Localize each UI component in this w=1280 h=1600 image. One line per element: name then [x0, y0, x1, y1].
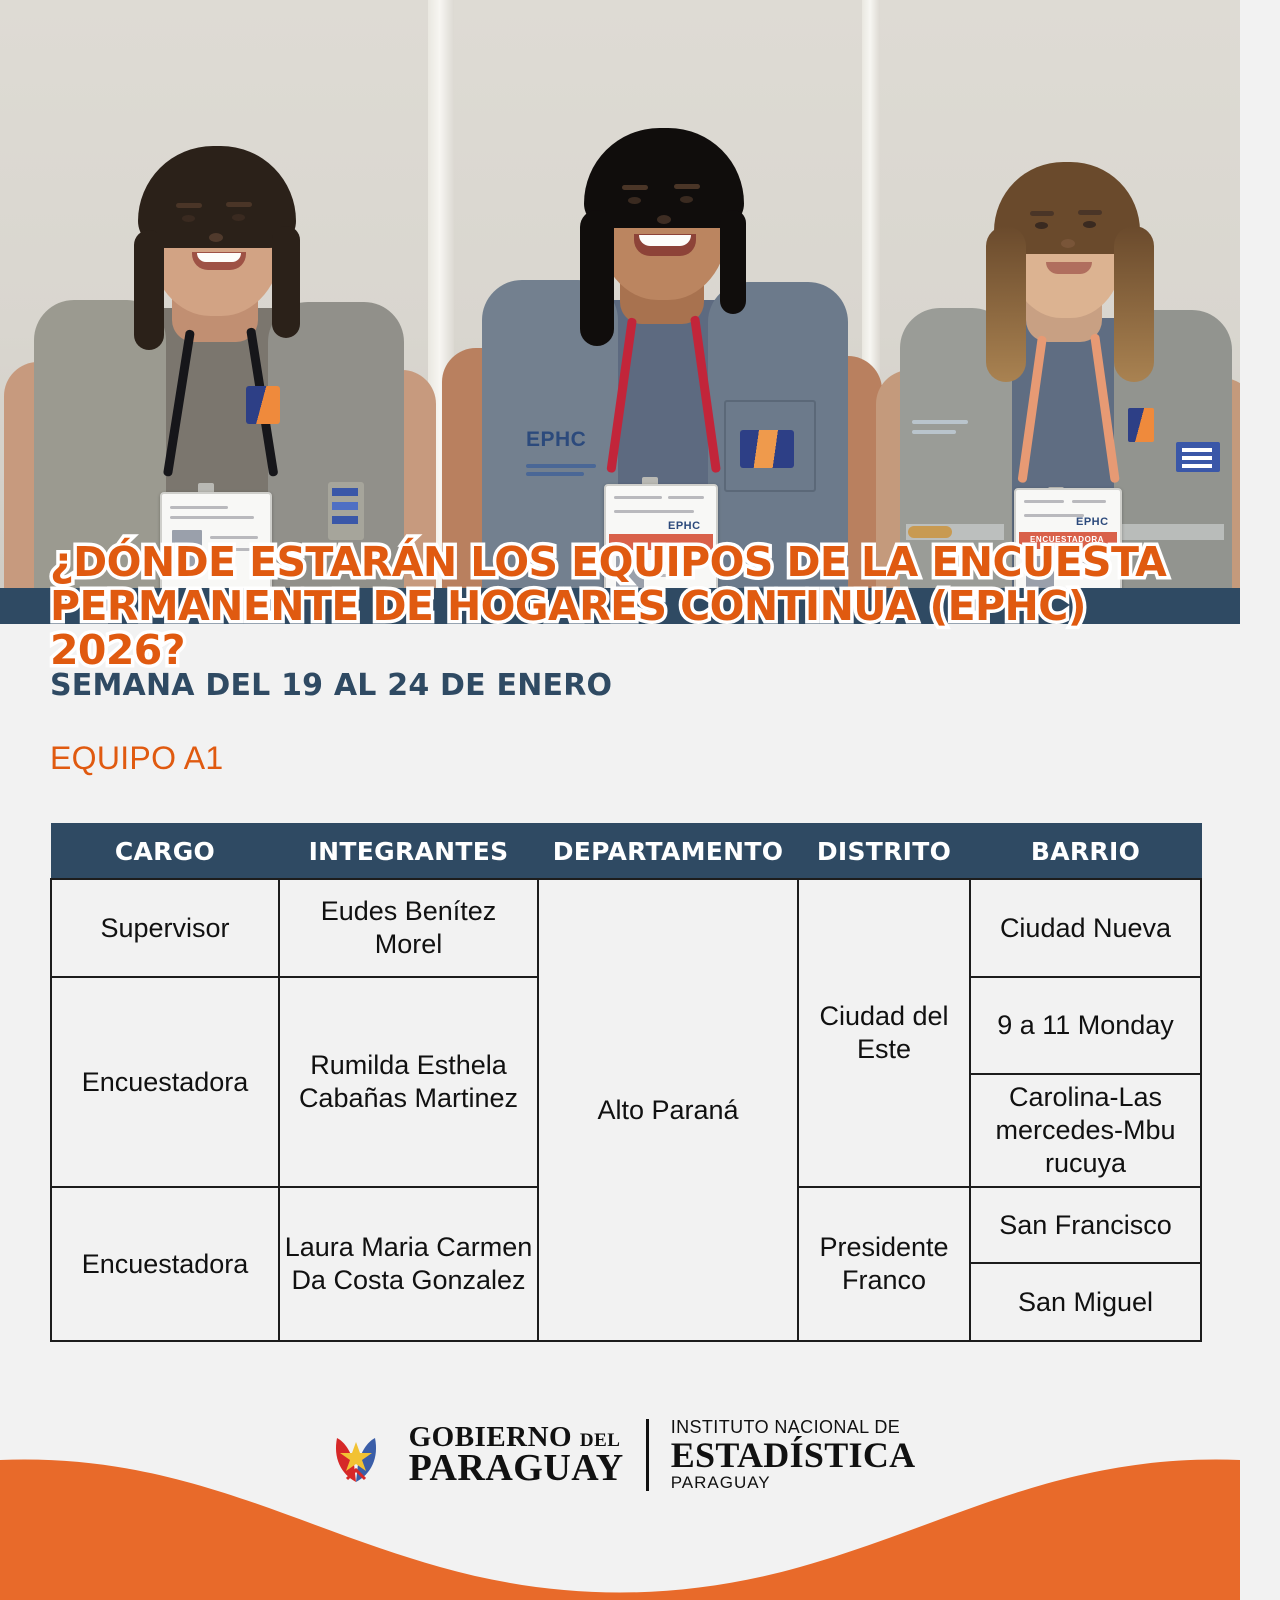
- column-header-distrito: DISTRITO: [798, 824, 970, 880]
- ine-line2: ESTADÍSTICA: [671, 1437, 916, 1474]
- paraguay-coat-of-arms-icon: [325, 1424, 387, 1486]
- assignments-table: CARGO INTEGRANTES DEPARTAMENTO DISTRITO …: [50, 823, 1202, 1342]
- week-subtitle: SEMANA DEL 19 AL 24 DE ENERO: [50, 668, 612, 703]
- cell-barrio-4: San Francisco: [970, 1187, 1201, 1263]
- vest-ephc-mark: EPHC: [526, 428, 586, 452]
- cell-integrantes-1: Eudes Benítez Morel: [279, 879, 538, 977]
- title-line-1: ¿DÓNDE ESTARÁN LOS EQUIPOS DE LA ENCUEST…: [50, 540, 1210, 584]
- cell-cargo-2: Encuestadora: [51, 977, 279, 1187]
- table-row: Supervisor Eudes Benítez Morel Alto Para…: [51, 879, 1201, 977]
- gobierno-paraguay-wordmark: GOBIERNO DEL PARAGUAY: [409, 1424, 624, 1486]
- cell-integrantes-2: Rumilda Esthela Cabañas Martinez: [279, 977, 538, 1187]
- cell-departamento: Alto Paraná: [538, 879, 798, 1341]
- page-title: ¿DÓNDE ESTARÁN LOS EQUIPOS DE LA ENCUEST…: [50, 540, 1210, 672]
- poster-page: EPHC EPHC: [0, 0, 1240, 1600]
- team-label: EQUIPO A1: [50, 740, 223, 777]
- column-header-cargo: CARGO: [51, 824, 279, 880]
- column-header-departamento: DEPARTAMENTO: [538, 824, 798, 880]
- ine-chest-logo-right-icon: [1128, 408, 1154, 442]
- cell-integrantes-3: Laura Maria Carmen Da Costa Gonzalez: [279, 1187, 538, 1341]
- cell-cargo-3: Encuestadora: [51, 1187, 279, 1341]
- ine-wordmark: INSTITUTO NACIONAL DE ESTADÍSTICA PARAGU…: [671, 1418, 916, 1492]
- person-center: EPHC EPHC: [452, 150, 872, 600]
- team-photo: EPHC EPHC: [0, 0, 1240, 600]
- ine-line3: PARAGUAY: [671, 1474, 916, 1492]
- cell-barrio-2: 9 a 11 Monday: [970, 977, 1201, 1074]
- person-right: EPHC ENCUESTADORA: [890, 180, 1240, 600]
- logo-divider: [646, 1419, 649, 1491]
- cell-barrio-3: Carolina-Las mercedes-Mbu rucuya: [970, 1074, 1201, 1187]
- table-header-row: CARGO INTEGRANTES DEPARTAMENTO DISTRITO …: [51, 824, 1201, 880]
- cell-distrito-1: Ciudad del Este: [798, 879, 970, 1187]
- column-header-integrantes: INTEGRANTES: [279, 824, 538, 880]
- column-header-barrio: BARRIO: [970, 824, 1201, 880]
- person-left: [10, 180, 430, 600]
- cell-barrio-5: San Miguel: [970, 1263, 1201, 1341]
- gov-line2: PARAGUAY: [409, 1451, 624, 1486]
- footer-logos: GOBIERNO DEL PARAGUAY INSTITUTO NACIONAL…: [0, 1418, 1240, 1492]
- ine-chest-logo-icon: [246, 386, 280, 424]
- cell-distrito-2: Presidente Franco: [798, 1187, 970, 1341]
- cell-cargo-1: Supervisor: [51, 879, 279, 977]
- cell-barrio-1: Ciudad Nueva: [970, 879, 1201, 977]
- title-line-2: PERMANENTE DE HOGARES CONTINUA (EPHC) 20…: [50, 584, 1210, 672]
- ine-line1: INSTITUTO NACIONAL DE: [671, 1418, 916, 1437]
